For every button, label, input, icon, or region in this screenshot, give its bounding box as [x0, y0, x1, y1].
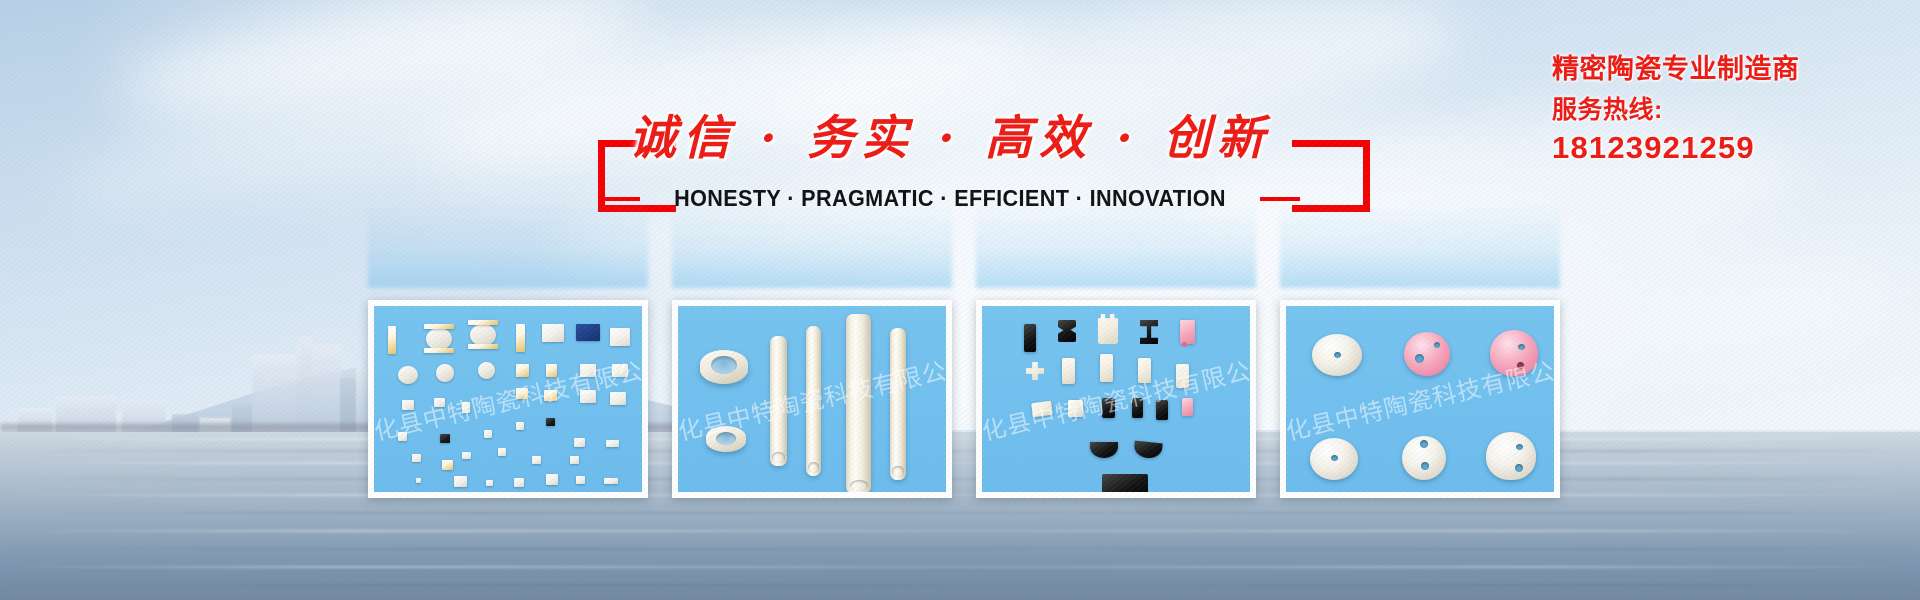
panel-reflection — [672, 202, 952, 288]
ceramic-block — [1102, 474, 1148, 492]
hero-banner: 诚信 · 务实 · 高效 · 创新 HONESTY · PRAGMATIC · … — [0, 0, 1920, 600]
ceramic-cap — [1486, 432, 1536, 480]
slogan-chinese: 诚信 · 务实 · 高效 · 创新 — [620, 108, 1280, 170]
contact-headline: 精密陶瓷专业制造商 — [1552, 52, 1912, 86]
product-panel-4[interactable]: 新化县中特陶瓷科技有限公司 — [1280, 300, 1560, 498]
ceramic-disc — [1312, 334, 1362, 376]
hotline-phone-number[interactable]: 18123921259 — [1552, 130, 1912, 166]
panel-reflection — [976, 202, 1256, 288]
panel-3-photo: 新化县中特陶瓷科技有限公司 — [982, 306, 1250, 492]
panel-4-photo: 新化县中特陶瓷科技有限公司 — [1286, 306, 1554, 492]
ceramic-rod — [846, 314, 871, 492]
ceramic-rod — [890, 328, 906, 480]
product-panel-1[interactable]: 新化县中特陶瓷科技有限公司 — [368, 300, 648, 498]
panel-1-photo: 新化县中特陶瓷科技有限公司 — [374, 306, 642, 492]
ceramic-arc — [1090, 442, 1118, 458]
product-panel-2[interactable]: 新化县中特陶瓷科技有限公司 — [672, 300, 952, 498]
ceramic-disc — [1402, 436, 1446, 480]
panel-watermark: 新化县中特陶瓷科技有限公司 — [982, 345, 1250, 452]
product-panels: 新化县中特陶瓷科技有限公司 新化县中特陶瓷科技有限公司 — [0, 300, 1920, 500]
contact-block: 精密陶瓷专业制造商 服务热线: 18123921259 — [1552, 52, 1912, 166]
product-panel-3[interactable]: 新化县中特陶瓷科技有限公司 — [976, 300, 1256, 498]
ceramic-disc — [1310, 438, 1358, 480]
rule-right — [1260, 197, 1300, 201]
panel-reflection — [1280, 202, 1560, 288]
panel-watermark: 新化县中特陶瓷科技有限公司 — [374, 345, 642, 452]
ceramic-arc — [1133, 441, 1163, 460]
ceramic-rod — [806, 326, 821, 476]
panel-reflection — [368, 202, 648, 288]
ceramic-cap — [1490, 330, 1538, 376]
ceramic-disc — [1404, 332, 1450, 376]
hotline-label: 服务热线: — [1552, 90, 1912, 130]
ceramic-rod — [770, 336, 787, 466]
panel-2-photo: 新化县中特陶瓷科技有限公司 — [678, 306, 946, 492]
rule-left — [600, 197, 640, 201]
